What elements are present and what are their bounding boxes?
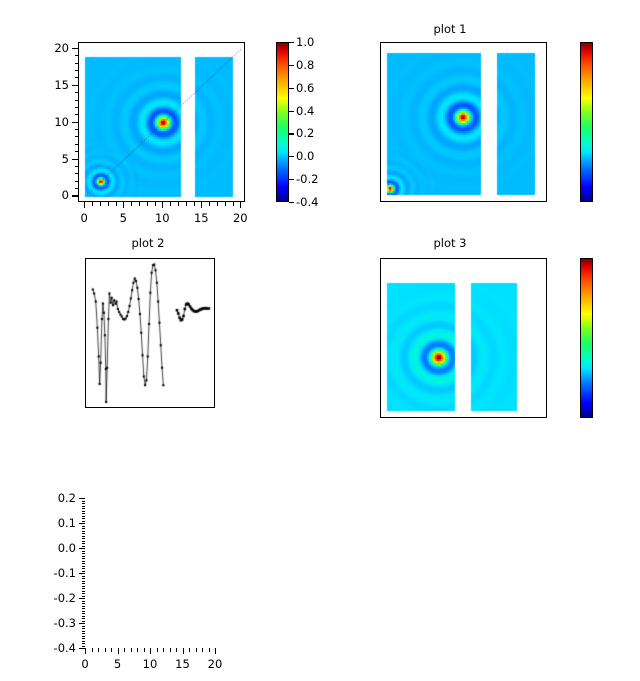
y-minor-tick: [82, 513, 86, 514]
x-major-tick: [215, 648, 216, 654]
y-tick-label: 0.2: [31, 491, 76, 505]
panel-top-left: 0510152005101520 1.00.80.60.40.20.0-0.2-…: [0, 0, 320, 240]
colorbar-tick: [289, 133, 294, 134]
y-minor-tick: [82, 608, 86, 609]
y-minor-tick: [82, 571, 86, 572]
y-tick-label: 20: [24, 41, 69, 55]
y-tick-label: -0.4: [31, 641, 76, 655]
x-minor-tick: [176, 648, 177, 652]
y-major-tick: [79, 498, 85, 499]
panel-top-right-axes: [380, 42, 547, 202]
y-minor-tick: [82, 578, 86, 579]
colorbar-tick: [289, 179, 294, 180]
x-minor-tick: [137, 648, 138, 652]
colorbar-tick-label: -0.4: [296, 195, 318, 209]
y-minor-tick: [82, 521, 86, 522]
x-tick-label: 10: [140, 211, 184, 225]
y-major-tick: [79, 548, 85, 549]
y-major-tick: [79, 648, 85, 649]
y-minor-tick: [82, 646, 86, 647]
x-minor-tick: [131, 648, 132, 652]
y-minor-tick: [82, 616, 86, 617]
y-minor-tick: [82, 581, 86, 582]
x-minor-tick: [105, 648, 106, 652]
x-tick-label: 0: [62, 211, 106, 225]
panel-bottom-right-axes: [380, 258, 547, 418]
y-tick-label: 0: [24, 188, 69, 202]
y-minor-tick: [82, 633, 86, 634]
y-minor-tick: [82, 518, 86, 519]
panel-bottom-right: plot 3 050100020406080100 0.80.60.40.20.…: [320, 240, 640, 480]
y-minor-tick: [82, 543, 86, 544]
colorbar-top-left: [276, 42, 289, 202]
y-minor-tick: [82, 606, 86, 607]
y-major-tick: [72, 48, 78, 49]
x-minor-tick: [225, 202, 226, 206]
panel-bottom-left-axes: [85, 258, 215, 408]
colorbar-tick-label: 0.0: [296, 149, 314, 163]
y-minor-tick: [82, 506, 86, 507]
x-minor-tick: [147, 202, 148, 206]
y-minor-tick: [75, 151, 79, 152]
x-minor-tick: [209, 202, 210, 206]
y-minor-tick: [75, 107, 79, 108]
x-minor-tick: [157, 648, 158, 652]
line-canvas-bottom-left: [86, 259, 215, 408]
x-minor-tick: [131, 202, 132, 206]
x-major-tick: [84, 202, 85, 208]
y-tick-label: -0.1: [31, 566, 76, 580]
y-minor-tick: [75, 100, 79, 101]
y-minor-tick: [82, 536, 86, 537]
x-minor-tick: [108, 202, 109, 206]
colorbar-top-right: [580, 42, 593, 202]
x-major-tick: [240, 202, 241, 208]
y-tick-label: 0.0: [31, 541, 76, 555]
y-minor-tick: [82, 526, 86, 527]
x-tick-label: 5: [101, 211, 145, 225]
colorbar-tick: [289, 88, 294, 89]
x-major-tick: [118, 648, 119, 654]
x-tick-label: 20: [193, 657, 237, 671]
y-major-tick: [72, 85, 78, 86]
y-major-tick: [79, 623, 85, 624]
y-minor-tick: [82, 551, 86, 552]
y-minor-tick: [82, 638, 86, 639]
x-minor-tick: [92, 202, 93, 206]
y-minor-tick: [82, 628, 86, 629]
x-major-tick: [183, 648, 184, 654]
y-minor-tick: [82, 641, 86, 642]
y-minor-tick: [82, 538, 86, 539]
y-minor-tick: [82, 576, 86, 577]
colorbar-tick: [289, 111, 294, 112]
y-minor-tick: [82, 591, 86, 592]
y-minor-tick: [82, 603, 86, 604]
y-minor-tick: [82, 501, 86, 502]
y-major-tick: [79, 573, 85, 574]
y-tick-label: 15: [24, 78, 69, 92]
y-major-tick: [72, 159, 78, 160]
x-major-tick: [162, 202, 163, 208]
y-minor-tick: [82, 561, 86, 562]
colorbar-tick-label: 1.0: [296, 35, 314, 49]
y-major-tick: [79, 523, 85, 524]
colorbar-tick-label: 0.2: [296, 126, 314, 140]
y-minor-tick: [75, 129, 79, 130]
x-minor-tick: [111, 648, 112, 652]
x-minor-tick: [202, 648, 203, 652]
x-minor-tick: [209, 648, 210, 652]
x-minor-tick: [186, 202, 187, 206]
y-minor-tick: [82, 631, 86, 632]
y-major-tick: [72, 122, 78, 123]
y-tick-label: -0.2: [31, 591, 76, 605]
y-minor-tick: [75, 166, 79, 167]
y-minor-tick: [75, 92, 79, 93]
y-minor-tick: [75, 181, 79, 182]
x-minor-tick: [155, 202, 156, 206]
x-minor-tick: [98, 648, 99, 652]
y-minor-tick: [75, 188, 79, 189]
x-tick-label: 20: [218, 211, 262, 225]
y-tick-label: 0.1: [31, 516, 76, 530]
colorbar-tick-label: 0.8: [296, 58, 314, 72]
x-minor-tick: [217, 202, 218, 206]
colorbar-bottom-right: [580, 258, 593, 418]
y-minor-tick: [82, 556, 86, 557]
panel-bottom-right-title: plot 3: [385, 236, 515, 250]
x-minor-tick: [144, 648, 145, 652]
y-minor-tick: [82, 541, 86, 542]
panel-top-left-axes: [78, 42, 245, 202]
y-minor-tick: [82, 566, 86, 567]
x-major-tick: [85, 648, 86, 654]
y-minor-tick: [82, 601, 86, 602]
y-minor-tick: [75, 136, 79, 137]
colorbar-tick-label: 0.4: [296, 104, 314, 118]
x-minor-tick: [233, 202, 234, 206]
colorbar-tick: [289, 202, 294, 203]
y-minor-tick: [82, 553, 86, 554]
x-minor-tick: [116, 202, 117, 206]
y-minor-tick: [75, 144, 79, 145]
y-minor-tick: [82, 636, 86, 637]
y-minor-tick: [82, 588, 86, 589]
y-minor-tick: [82, 503, 86, 504]
y-minor-tick: [82, 621, 86, 622]
y-minor-tick: [82, 531, 86, 532]
y-tick-label: 10: [24, 115, 69, 129]
y-minor-tick: [82, 516, 86, 517]
colorbar-tick-label: -0.2: [296, 172, 318, 186]
x-minor-tick: [92, 648, 93, 652]
x-minor-tick: [170, 648, 171, 652]
y-minor-tick: [82, 568, 86, 569]
y-minor-tick: [75, 114, 79, 115]
y-major-tick: [72, 195, 78, 196]
y-minor-tick: [82, 558, 86, 559]
y-minor-tick: [82, 613, 86, 614]
x-minor-tick: [194, 202, 195, 206]
y-minor-tick: [82, 586, 86, 587]
x-minor-tick: [178, 202, 179, 206]
panel-bottom-left-title: plot 2: [88, 236, 208, 250]
y-major-tick: [79, 598, 85, 599]
y-minor-tick: [82, 546, 86, 547]
y-minor-tick: [82, 563, 86, 564]
y-minor-tick: [82, 533, 86, 534]
y-minor-tick: [75, 55, 79, 56]
y-minor-tick: [82, 583, 86, 584]
x-minor-tick: [163, 648, 164, 652]
y-minor-tick: [82, 593, 86, 594]
y-tick-label: -0.3: [31, 616, 76, 630]
x-tick-label: 15: [179, 211, 223, 225]
y-minor-tick: [82, 511, 86, 512]
x-major-tick: [123, 202, 124, 208]
y-minor-tick: [82, 596, 86, 597]
y-minor-tick: [82, 611, 86, 612]
figure-canvas: 0510152005101520 1.00.80.60.40.20.0-0.2-…: [0, 0, 640, 480]
y-minor-tick: [75, 173, 79, 174]
x-minor-tick: [124, 648, 125, 652]
x-minor-tick: [170, 202, 171, 206]
colorbar-tick: [289, 156, 294, 157]
y-minor-tick: [82, 528, 86, 529]
x-minor-tick: [189, 648, 190, 652]
x-major-tick: [201, 202, 202, 208]
heatmap-canvas-top-right: [381, 43, 547, 202]
x-major-tick: [150, 648, 151, 654]
y-minor-tick: [75, 77, 79, 78]
x-minor-tick: [196, 648, 197, 652]
x-minor-tick: [100, 202, 101, 206]
y-minor-tick: [82, 618, 86, 619]
y-minor-tick: [82, 626, 86, 627]
colorbar-tick-label: 0.6: [296, 81, 314, 95]
colorbar-tick: [289, 42, 294, 43]
heatmap-canvas-bottom-right: [381, 259, 547, 418]
y-minor-tick: [82, 643, 86, 644]
y-minor-tick: [82, 508, 86, 509]
y-minor-tick: [75, 70, 79, 71]
panel-top-right-title: plot 1: [385, 22, 515, 36]
panel-bottom-left: plot 2 051015200.20.10.0-0.1-0.2-0.3-0.4: [0, 240, 320, 480]
panel-top-right: plot 1 050100020406080100 1.00.80.60.40.…: [320, 0, 640, 240]
y-minor-tick: [75, 63, 79, 64]
y-tick-label: 5: [24, 152, 69, 166]
colorbar-tick: [289, 65, 294, 66]
x-minor-tick: [139, 202, 140, 206]
heatmap-canvas-top-left: [79, 43, 245, 202]
